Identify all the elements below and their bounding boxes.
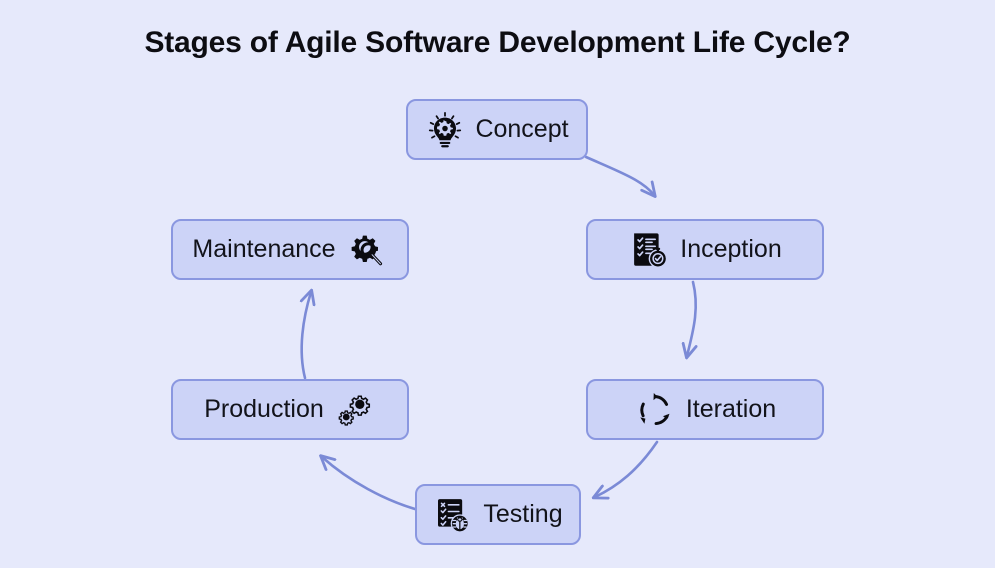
node-iteration-label: Iteration — [686, 397, 776, 422]
node-maintenance-label: Maintenance — [192, 237, 335, 262]
edge-iteration-to-testing — [595, 442, 657, 497]
edge-testing-to-production — [322, 457, 415, 509]
edge-inception-to-iteration — [687, 282, 696, 356]
page-title: Stages of Agile Software Development Lif… — [0, 26, 995, 60]
lightbulb-gear-icon — [425, 110, 465, 150]
node-concept[interactable]: Concept — [406, 99, 588, 160]
node-testing-label: Testing — [483, 502, 562, 527]
node-inception-label: Inception — [680, 237, 781, 262]
node-production-label: Production — [204, 397, 324, 422]
node-production[interactable]: Production — [171, 379, 409, 440]
edge-concept-to-inception — [586, 157, 654, 195]
clipboard-stopwatch-icon — [628, 229, 670, 271]
two-gears-icon — [334, 389, 376, 431]
edge-production-to-maintenance — [302, 292, 311, 378]
node-concept-label: Concept — [475, 117, 568, 142]
node-inception[interactable]: Inception — [586, 219, 824, 280]
circular-arrows-icon — [634, 389, 676, 431]
node-testing[interactable]: Testing — [415, 484, 581, 545]
checklist-bug-icon — [433, 495, 473, 535]
arrow-layer — [0, 0, 995, 568]
node-iteration[interactable]: Iteration — [586, 379, 824, 440]
diagram-canvas: Stages of Agile Software Development Lif… — [0, 0, 995, 568]
node-maintenance[interactable]: Maintenance — [171, 219, 409, 280]
gear-wrench-icon — [346, 229, 388, 271]
